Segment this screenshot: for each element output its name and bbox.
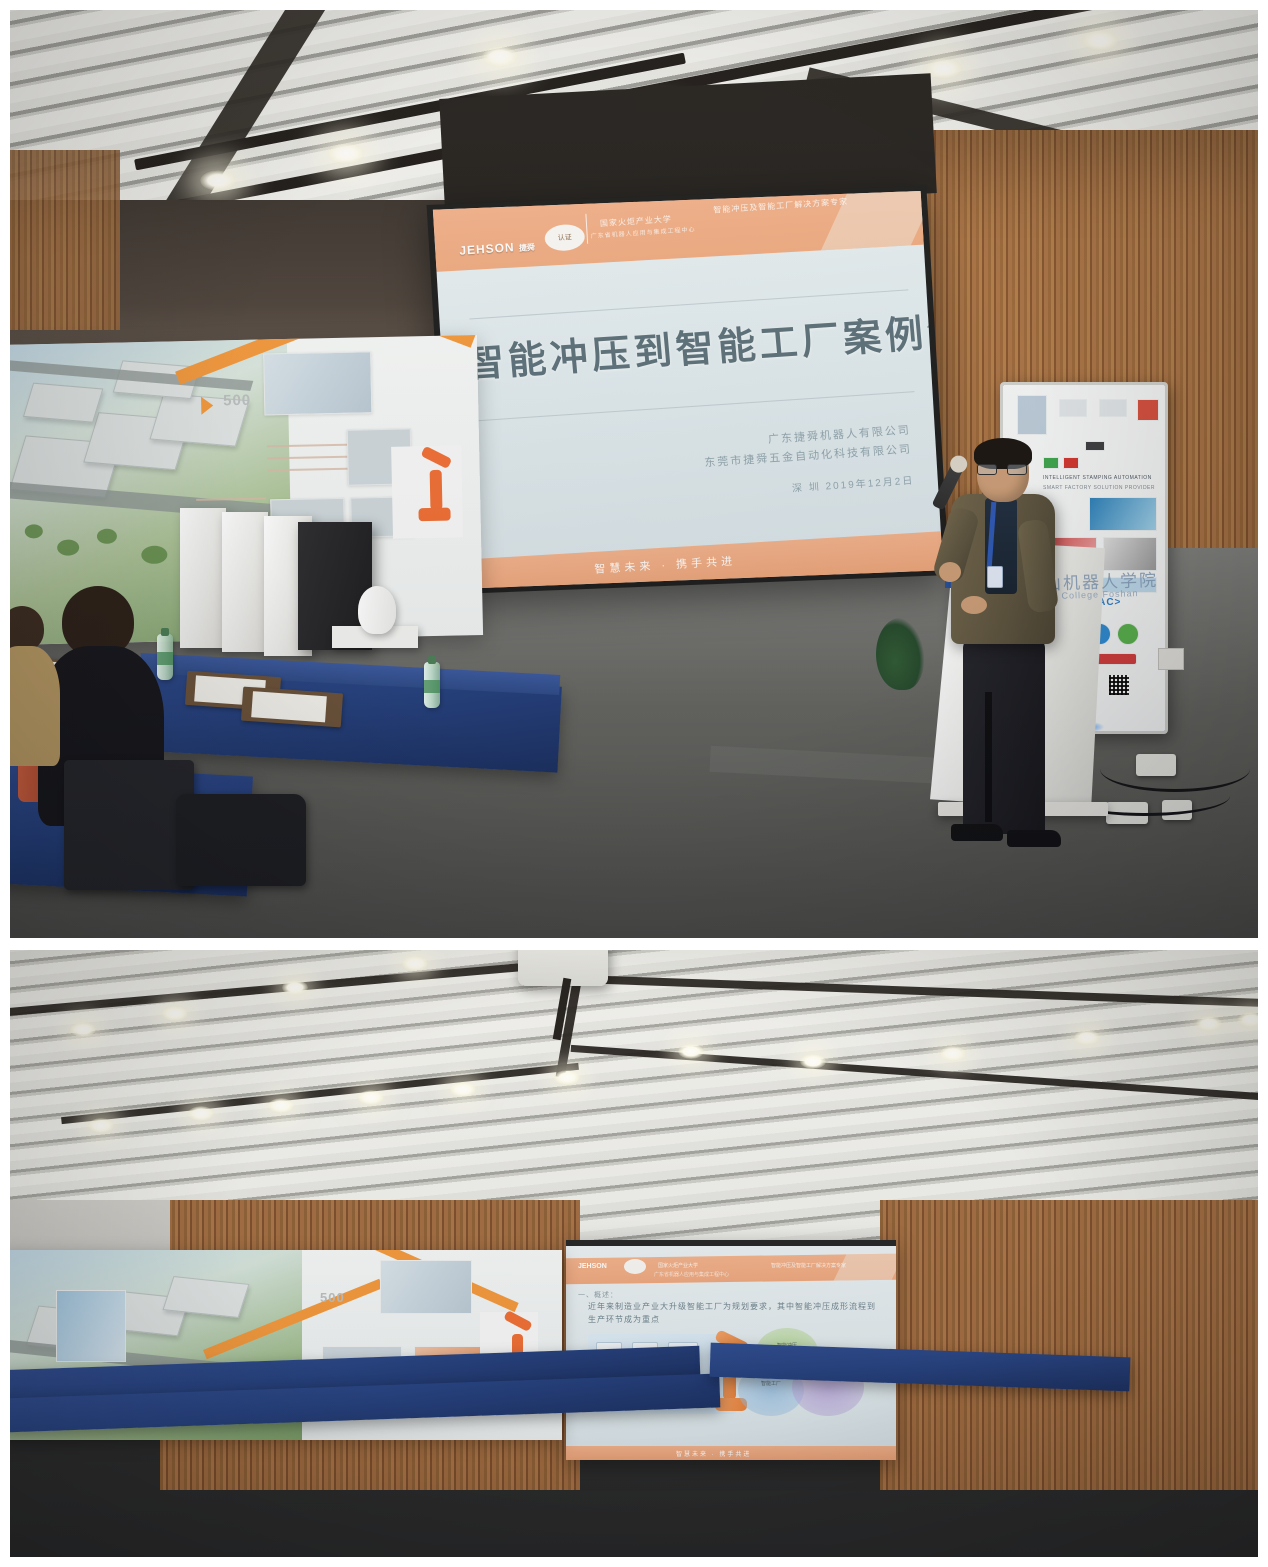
slide-date-line: 深 圳 2019年12月2日 bbox=[791, 472, 914, 495]
slide-footer-text: 智慧未来 · 携手共进 bbox=[594, 552, 736, 576]
slide-seal-badge bbox=[624, 1259, 646, 1274]
slide-brand-cn: 捷舜 bbox=[519, 243, 536, 253]
ceiling-downlight bbox=[402, 956, 428, 971]
slide-subtitle-2: 东莞市捷舜五金自动化科技有限公司 bbox=[704, 441, 913, 471]
shoe bbox=[951, 824, 1003, 841]
flag-icon bbox=[201, 397, 213, 415]
ceiling-downlight bbox=[554, 1070, 580, 1085]
slide-title: 智能冲压到智能工厂案例浅析 bbox=[464, 303, 928, 388]
ceiling-downlight bbox=[358, 1090, 384, 1105]
ceiling-downlight bbox=[200, 170, 236, 191]
robot-arm-illustration bbox=[391, 445, 463, 538]
slide-section-label: 一、概述： bbox=[578, 1290, 618, 1300]
ceiling-downlight bbox=[1074, 1030, 1100, 1045]
photo-panel-bottom: JEHSON 国家火炬产业大学 广东省机器人应用与集成工程中心 智能冲压及智能工… bbox=[10, 950, 1258, 1557]
slide-header-line-1: 国家火炬产业大学 bbox=[658, 1262, 698, 1269]
photo-collage: JEHSON 捷舜 认证 国家火炬产业大学 广东省机器人应用与集成工程中心 智能… bbox=[0, 0, 1268, 1567]
slide-footer-text: 智慧未来 · 携手共进 bbox=[676, 1449, 751, 1458]
shoe bbox=[1007, 830, 1061, 847]
wall-socket bbox=[1158, 648, 1184, 670]
eyeglasses-icon bbox=[977, 464, 1027, 475]
ceiling-downlight bbox=[1238, 1012, 1258, 1027]
display-pedestal bbox=[180, 508, 226, 648]
ceiling-downlight bbox=[188, 1106, 214, 1121]
ceiling-downlight bbox=[1082, 30, 1118, 51]
slide-body-text: 近年来制造业产业大升级智能工厂为规划要求，其中智能冲压成形流程到生产环节成为重点 bbox=[588, 1300, 882, 1326]
ceiling-downlight bbox=[926, 58, 962, 79]
slide-surface: JEHSON 捷舜 认证 国家火炬产业大学 广东省机器人应用与集成工程中心 智能… bbox=[433, 191, 943, 589]
ceiling-downlight bbox=[482, 46, 518, 67]
clipboard bbox=[241, 687, 343, 728]
potted-plant bbox=[876, 618, 924, 690]
ceiling-downlight bbox=[450, 1082, 476, 1097]
name-badge bbox=[987, 566, 1003, 588]
slide-footer-band: 智慧未来 · 携手共进 bbox=[566, 1446, 896, 1460]
ceiling-downlight bbox=[940, 1046, 966, 1061]
exhibit-number: 500 bbox=[223, 392, 251, 410]
bag bbox=[176, 794, 306, 886]
ceiling-downlight bbox=[1196, 1016, 1222, 1031]
ceiling-downlight bbox=[800, 1054, 826, 1069]
slide-rule-bottom bbox=[475, 391, 914, 421]
chair bbox=[64, 760, 194, 890]
slide-header-band bbox=[566, 1254, 896, 1285]
ceiling-downlight bbox=[162, 1006, 188, 1021]
slide-header-right: 智能冲压及智能工厂解决方案专家 bbox=[771, 1262, 846, 1269]
presenter-hand-left bbox=[939, 562, 961, 582]
display-pedestal bbox=[222, 512, 268, 652]
ceiling-downlight bbox=[328, 143, 364, 164]
exhibit-number: 500 bbox=[320, 1290, 345, 1305]
presenter-hand-right bbox=[961, 596, 987, 614]
wood-slat-wall bbox=[880, 1200, 1258, 1490]
slide-brand-logo: JEHSON bbox=[578, 1263, 607, 1270]
ceiling-downlight bbox=[88, 1118, 114, 1133]
booth-photo bbox=[380, 1260, 472, 1314]
ceiling-downlight bbox=[678, 1044, 704, 1059]
projection-screen: JEHSON 捷舜 认证 国家火炬产业大学 广东省机器人应用与集成工程中心 智能… bbox=[427, 186, 950, 595]
water-bottle bbox=[157, 634, 173, 680]
ceiling-downlight bbox=[282, 980, 308, 995]
ceramic-vase bbox=[358, 586, 396, 634]
presenter-legs bbox=[963, 638, 1045, 834]
presenter bbox=[945, 442, 1075, 854]
wood-slat-wall bbox=[10, 150, 120, 330]
slide-header-line-2: 广东省机器人应用与集成工程中心 bbox=[654, 1271, 729, 1278]
water-bottle bbox=[424, 662, 440, 708]
ceiling-downlight bbox=[268, 1098, 294, 1113]
presenter-leg-split bbox=[985, 692, 992, 822]
photo-panel-top: JEHSON 捷舜 认证 国家火炬产业大学 广东省机器人应用与集成工程中心 智能… bbox=[10, 10, 1258, 938]
ceiling-downlight bbox=[70, 1022, 96, 1037]
booth-photo bbox=[56, 1290, 126, 1362]
